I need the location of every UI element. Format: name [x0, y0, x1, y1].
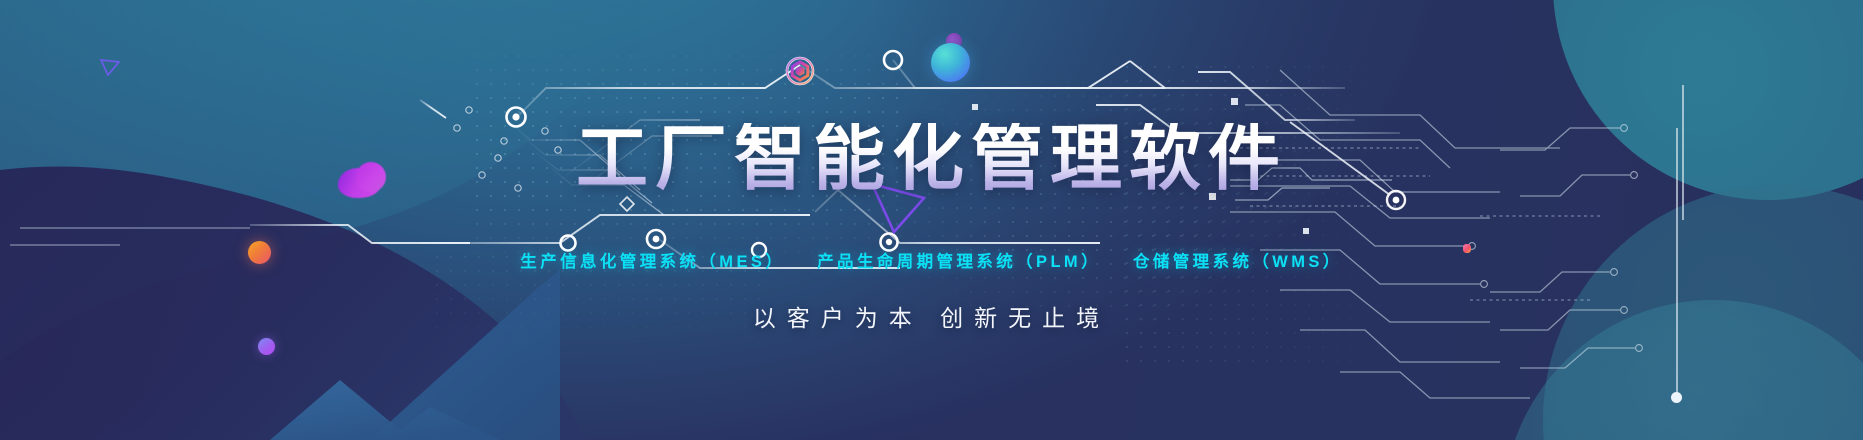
banner-tagline: 以客户为本 创新无止境 — [753, 299, 1110, 333]
banner-content: 工厂智能化管理软件 生产信息化管理系统（MES） 产品生命周期管理系统（PLM）… — [0, 0, 1863, 440]
system-item-plm: 产品生命周期管理系统（PLM） — [817, 253, 1101, 271]
hero-banner: 工厂智能化管理软件 生产信息化管理系统（MES） 产品生命周期管理系统（PLM）… — [0, 0, 1863, 440]
system-item-mes: 生产信息化管理系统（MES） — [520, 253, 785, 271]
system-item-wms: 仓储管理系统（WMS） — [1133, 253, 1343, 271]
banner-title: 工厂智能化管理软件 — [576, 123, 1287, 195]
system-list: 生产信息化管理系统（MES） 产品生命周期管理系统（PLM） 仓储管理系统（WM… — [508, 248, 1354, 272]
